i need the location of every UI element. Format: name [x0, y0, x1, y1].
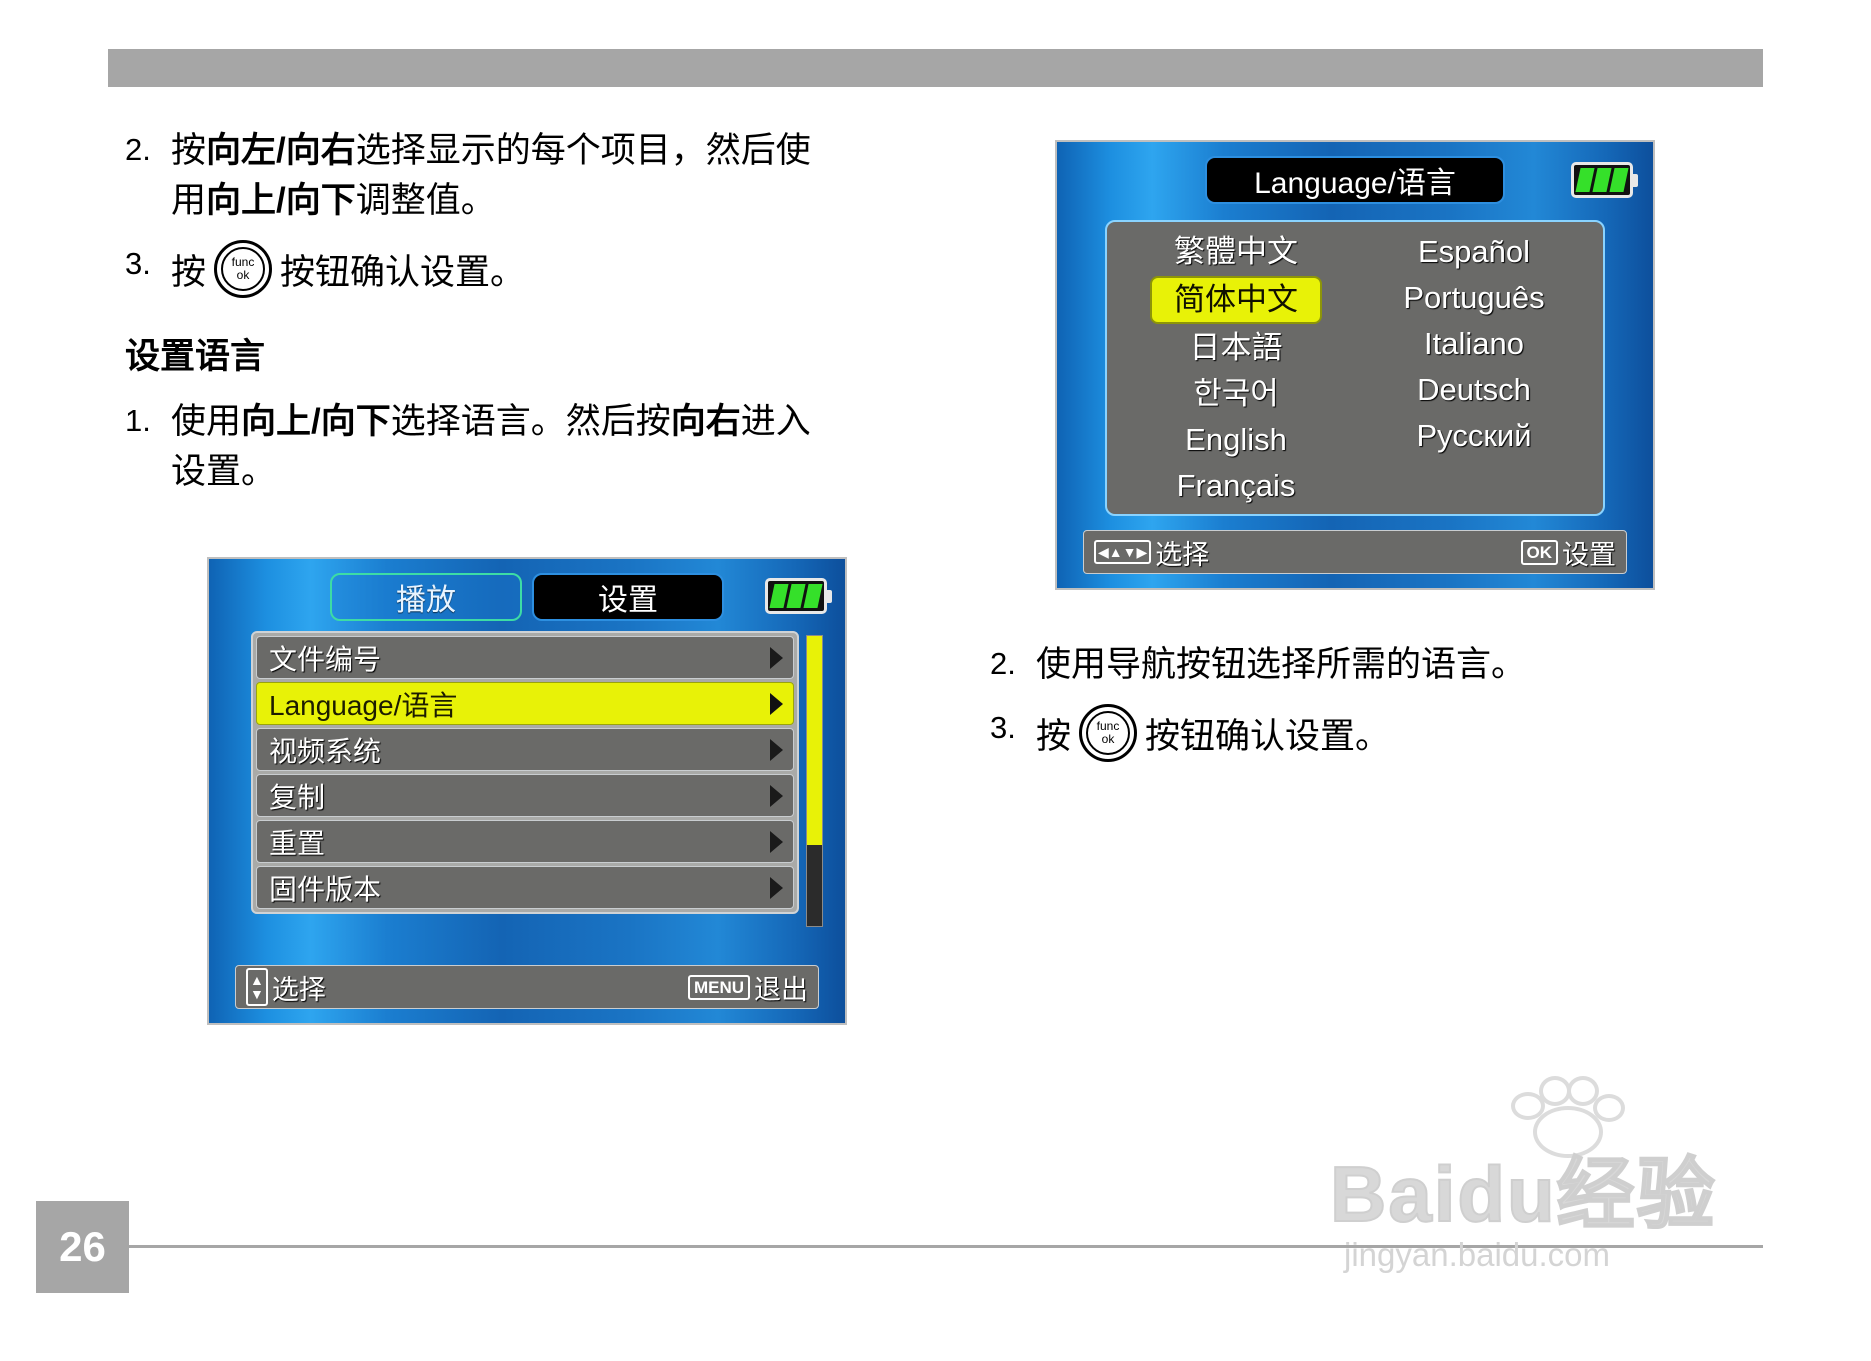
language-option-portuguese[interactable]: Português	[1391, 276, 1556, 320]
step-text: 按funcok按钮确认设置。	[171, 240, 525, 298]
step-number: 3.	[125, 240, 171, 288]
func-ok-button-icon: funcok	[214, 240, 272, 298]
menu-scrollbar[interactable]	[806, 635, 823, 927]
func-ok-button-icon: funcok	[1079, 704, 1137, 762]
menu-item-language[interactable]: Language/语言	[256, 682, 794, 725]
step-text-part: 使用	[171, 402, 241, 441]
language-option-spanish[interactable]: Español	[1406, 230, 1542, 274]
step-text: 按funcok按钮确认设置。	[1036, 704, 1390, 762]
step-text-part-bold: 向左/向右	[206, 131, 356, 170]
menu-scrollbar-thumb[interactable]	[807, 636, 822, 845]
instruction-step-2-right: 2. 使用导航按钮选择所需的语言。	[990, 640, 1750, 690]
language-option-russian[interactable]: Русский	[1404, 414, 1543, 458]
menu-item-label: 复制	[269, 776, 325, 816]
step-text-suffix: 按钮确认设置。	[1145, 717, 1390, 756]
step-number: 2.	[125, 126, 171, 174]
menu-item-firmware-version[interactable]: 固件版本	[256, 866, 794, 909]
chevron-right-icon	[770, 877, 783, 899]
battery-full-icon	[1571, 162, 1633, 198]
menu-item-file-number[interactable]: 文件编号	[256, 636, 794, 679]
hint-confirm-label: 设置	[1562, 533, 1616, 572]
watermark-brand-text: Baidu经验	[1330, 1132, 1717, 1244]
chevron-right-icon	[770, 739, 783, 761]
section-heading-set-language: 设置语言	[125, 328, 825, 379]
paw-print-icon	[1505, 1074, 1625, 1154]
language-option-traditional-chinese[interactable]: 繁體中文	[1162, 230, 1310, 274]
hint-select: ▲▼ 选择	[246, 968, 326, 1007]
language-option-simplified-chinese[interactable]: 简体中文	[1150, 276, 1322, 324]
page-footer-rule	[108, 1245, 1763, 1248]
language-column-left: 繁體中文 简体中文 日本語 한국어 English Français	[1117, 230, 1355, 506]
camera-lcd-language-screen: Language/语言 繁體中文 简体中文 日本語 한국어 English Fr…	[1055, 140, 1655, 590]
hint-select: ◀▲▼▶ 选择	[1094, 533, 1209, 572]
lcd-title-row: Language/语言	[1057, 154, 1653, 206]
chevron-right-icon	[770, 693, 783, 715]
language-option-grid: 繁體中文 简体中文 日本語 한국어 English Français Españ…	[1105, 220, 1605, 516]
page-header-bar	[108, 49, 1763, 87]
page-number: 26	[36, 1201, 129, 1293]
language-option-english[interactable]: English	[1173, 418, 1299, 462]
instruction-step-2: 2. 按向左/向右选择显示的每个项目，然后使用向上/向下调整值。	[125, 126, 825, 226]
chevron-right-icon	[770, 831, 783, 853]
step-number: 1.	[125, 397, 171, 445]
menu-item-label: Language/语言	[269, 684, 457, 724]
ok-key-icon: OK	[1521, 540, 1559, 565]
func-ok-label-top: func	[1082, 720, 1134, 732]
step-text-part: 按	[171, 131, 206, 170]
func-ok-label-bottom: ok	[1082, 733, 1134, 745]
step-text-suffix: 按钮确认设置。	[280, 253, 525, 292]
chevron-right-icon	[770, 647, 783, 669]
func-ok-label-bottom: ok	[217, 269, 269, 281]
step-text-part-bold: 向右	[671, 402, 741, 441]
step-text-part: 调整值。	[356, 181, 496, 220]
battery-full-icon	[765, 578, 827, 614]
chevron-right-icon	[770, 785, 783, 807]
hint-confirm: OK 设置	[1521, 533, 1617, 572]
settings-menu-list: 文件编号 Language/语言 视频系统 复制 重置 固件版本	[251, 631, 799, 914]
left-text-column: 2. 按向左/向右选择显示的每个项目，然后使用向上/向下调整值。 3. 按fun…	[125, 126, 825, 511]
menu-key-icon: MENU	[688, 975, 750, 1000]
step-text-part-bold: 向上/向下	[206, 181, 356, 220]
step-text-prefix: 按	[1036, 717, 1071, 756]
step-text: 使用向上/向下选择语言。然后按向右进入设置。	[171, 397, 825, 497]
hint-exit-label: 退出	[754, 968, 808, 1007]
right-text-column: 2. 使用导航按钮选择所需的语言。 3. 按funcok按钮确认设置。	[990, 640, 1750, 776]
language-option-korean[interactable]: 한국어	[1181, 372, 1291, 416]
language-option-french[interactable]: Français	[1165, 464, 1308, 508]
language-option-japanese[interactable]: 日本語	[1178, 326, 1295, 370]
menu-item-label: 固件版本	[269, 868, 381, 908]
step-text-prefix: 按	[171, 253, 206, 292]
four-way-key-icon: ◀▲▼▶	[1094, 540, 1151, 564]
language-option-italian[interactable]: Italiano	[1412, 322, 1536, 366]
language-option-german[interactable]: Deutsch	[1405, 368, 1543, 412]
lcd-title-language: Language/语言	[1205, 156, 1505, 204]
lcd-hint-bar: ◀▲▼▶ 选择 OK 设置	[1083, 530, 1627, 574]
hint-select-label: 选择	[1155, 533, 1209, 572]
watermark-url-text: jingyan.baidu.com	[1344, 1236, 1610, 1274]
baidu-watermark: Baidu经验 jingyan.baidu.com	[1330, 1090, 1790, 1290]
tab-setup[interactable]: 设置	[532, 573, 724, 621]
func-ok-label-top: func	[217, 256, 269, 268]
step-text: 使用导航按钮选择所需的语言。	[1036, 640, 1526, 690]
instruction-step-1: 1. 使用向上/向下选择语言。然后按向右进入设置。	[125, 397, 825, 497]
tab-playback[interactable]: 播放	[330, 573, 522, 621]
step-text-part-bold: 向上/向下	[241, 402, 391, 441]
hint-exit: MENU 退出	[688, 968, 808, 1007]
lcd-tab-row: 播放 设置	[209, 571, 845, 623]
menu-item-copy[interactable]: 复制	[256, 774, 794, 817]
hint-select-label: 选择	[272, 968, 326, 1007]
lcd-hint-bar: ▲▼ 选择 MENU 退出	[235, 965, 819, 1009]
menu-item-reset[interactable]: 重置	[256, 820, 794, 863]
instruction-step-3-right: 3. 按funcok按钮确认设置。	[990, 704, 1750, 762]
menu-item-label: 重置	[269, 822, 325, 862]
step-number: 2.	[990, 640, 1036, 688]
menu-item-video-system[interactable]: 视频系统	[256, 728, 794, 771]
camera-lcd-settings-screen: 播放 设置 文件编号 Language/语言 视频系统 复制 重置 固件版本	[207, 557, 847, 1025]
updown-key-icon: ▲▼	[246, 968, 268, 1006]
menu-item-label: 视频系统	[269, 730, 381, 770]
step-number: 3.	[990, 704, 1036, 752]
step-text: 按向左/向右选择显示的每个项目，然后使用向上/向下调整值。	[171, 126, 825, 226]
instruction-step-3: 3. 按funcok按钮确认设置。	[125, 240, 825, 298]
menu-item-label: 文件编号	[269, 638, 381, 678]
language-column-right: Español Português Italiano Deutsch Русск…	[1355, 230, 1593, 506]
step-text-part: 选择语言。然后按	[391, 402, 671, 441]
